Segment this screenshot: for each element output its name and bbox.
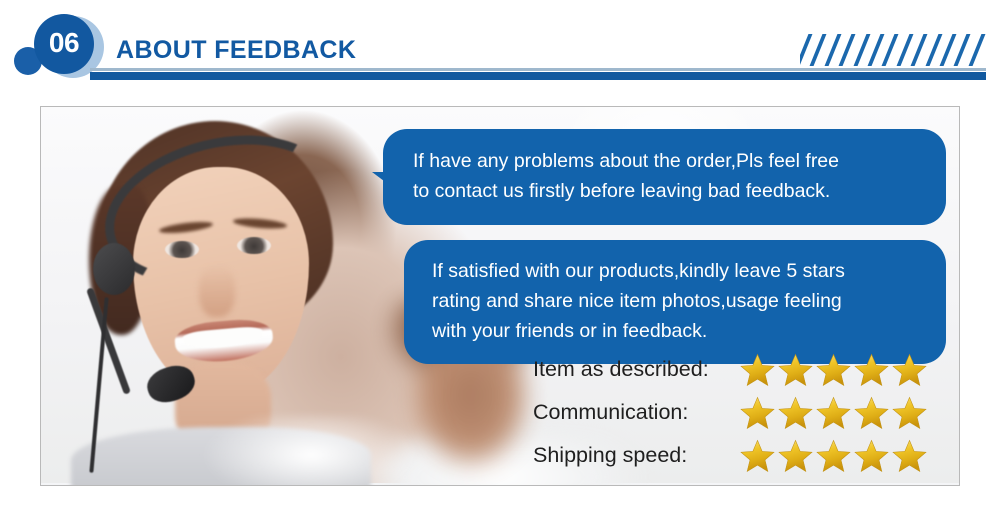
speech-bubble-satisfied-rating-text: If satisfied with our products,kindly le… xyxy=(432,256,924,346)
section-number: 06 xyxy=(49,29,79,57)
headset-earcup-icon xyxy=(93,243,135,295)
star-icon xyxy=(853,438,890,474)
star-icon xyxy=(777,438,814,474)
star-icon xyxy=(853,352,890,388)
star-icon xyxy=(777,352,814,388)
star-icon xyxy=(815,352,852,388)
star-icon xyxy=(739,438,776,474)
header-rule-thick xyxy=(90,72,986,80)
speech-bubble-order-problem: If have any problems about the order,Pls… xyxy=(383,129,946,225)
star-icon xyxy=(891,352,928,388)
star-icon xyxy=(891,438,928,474)
rating-stars xyxy=(739,352,928,388)
rating-label: Communication: xyxy=(533,400,733,425)
rating-row: Shipping speed: xyxy=(533,434,953,477)
page-title: ABOUT FEEDBACK xyxy=(116,36,356,65)
rating-stars xyxy=(739,438,928,474)
rating-label: Shipping speed: xyxy=(533,443,733,468)
star-icon xyxy=(815,395,852,431)
stripe xyxy=(967,34,986,66)
header-rule-thin xyxy=(90,68,986,71)
feedback-banner: 06 ABOUT FEEDBACK xyxy=(0,0,1000,513)
diagonal-stripes-decoration xyxy=(800,34,986,66)
foreground-agent xyxy=(71,115,401,483)
speech-bubble-satisfied-rating: If satisfied with our products,kindly le… xyxy=(404,240,946,364)
rating-row: Item as described: xyxy=(533,348,953,391)
rating-label: Item as described: xyxy=(533,357,733,382)
star-icon xyxy=(777,395,814,431)
shirt xyxy=(201,415,451,486)
star-icon xyxy=(891,395,928,431)
star-icon xyxy=(853,395,890,431)
speech-bubble-order-problem-text: If have any problems about the order,Pls… xyxy=(413,146,920,206)
star-icon xyxy=(739,395,776,431)
rating-stars xyxy=(739,395,928,431)
rating-row: Communication: xyxy=(533,391,953,434)
rating-list: Item as described:Communication:Shipping… xyxy=(533,348,953,477)
section-number-badge: 06 xyxy=(34,14,94,74)
star-icon xyxy=(815,438,852,474)
star-icon xyxy=(739,352,776,388)
section-header: 06 ABOUT FEEDBACK xyxy=(0,0,1000,95)
